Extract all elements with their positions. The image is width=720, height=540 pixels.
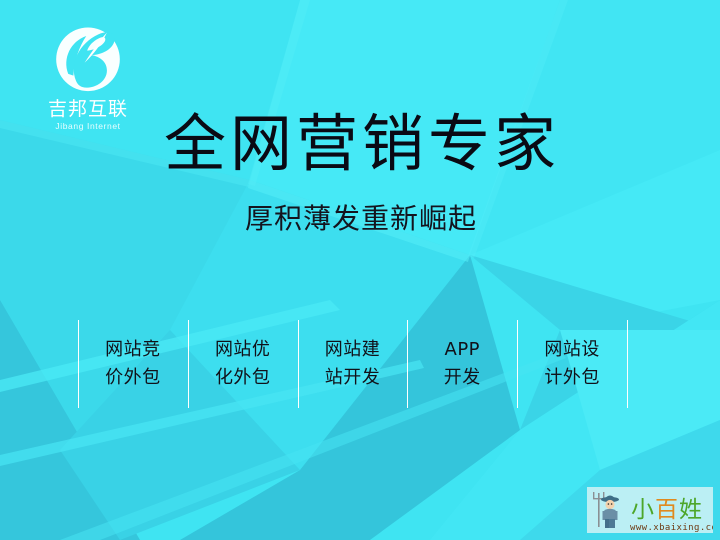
page-title: 全网营销专家 [0, 113, 720, 175]
service-divider [188, 320, 189, 408]
service-divider [78, 320, 79, 408]
watermark-url: www.xbaixing.com [630, 523, 713, 533]
watermark-brand-char-2: 百 [655, 497, 678, 523]
service-divider [407, 320, 408, 408]
service-item-app-development[interactable]: APP 开发 [407, 320, 517, 408]
service-label-line1: 网站优 [215, 336, 271, 364]
service-item-website-design[interactable]: 网站设 计外包 [517, 320, 627, 408]
site-watermark: 小 百 姓 www.xbaixing.com [587, 487, 713, 533]
page-subtitle: 厚积薄发重新崛起 [0, 205, 720, 233]
farmer-with-pitchfork-icon [593, 492, 619, 528]
service-label-line2: 站开发 [325, 364, 381, 392]
service-list: 网站竞 价外包 网站优 化外包 网站建 站开发 APP 开发 网站设 计外包 [78, 320, 627, 408]
service-label-line2: 价外包 [105, 364, 161, 392]
service-label-line1: 网站建 [325, 336, 381, 364]
service-label-line2: 计外包 [544, 364, 600, 392]
presentation-slide: 吉邦互联 Jibang Internet 全网营销专家 厚积薄发重新崛起 网站竞… [0, 0, 720, 540]
jibang-b-swoosh-logo-icon [45, 24, 131, 98]
service-label-line2: 化外包 [215, 364, 271, 392]
service-divider [298, 320, 299, 408]
service-item-website-bidding[interactable]: 网站竞 价外包 [78, 320, 188, 408]
service-item-website-optimization[interactable]: 网站优 化外包 [188, 320, 298, 408]
service-label-line2: 开发 [444, 364, 481, 392]
watermark-graphic: 小 百 姓 www.xbaixing.com [587, 487, 713, 533]
watermark-brand-char-3: 姓 [679, 497, 702, 523]
service-label-line1: 网站设 [544, 336, 600, 364]
service-divider-end [627, 320, 628, 408]
service-label-line1: 网站竞 [105, 336, 161, 364]
service-item-website-development[interactable]: 网站建 站开发 [298, 320, 408, 408]
service-label-line1: APP [445, 336, 481, 364]
watermark-brand-char-1: 小 [631, 497, 654, 523]
service-divider [517, 320, 518, 408]
